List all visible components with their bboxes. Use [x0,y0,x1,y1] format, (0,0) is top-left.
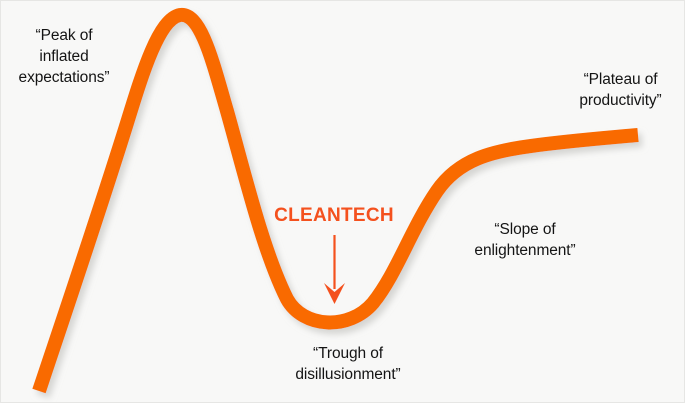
down-arrow-icon [319,233,351,309]
cleantech-marker-label: CLEANTECH [239,205,429,227]
hype-curve-path [39,15,638,391]
label-slope-of-enlightenment: “Slope of enlightenment” [439,219,611,261]
label-trough-of-disillusionment: “Trough of disillusionment” [253,343,443,385]
hype-cycle-figure: “Peak of inflated expectations” “Plateau… [0,0,685,403]
label-peak-of-inflated-expectations: “Peak of inflated expectations” [1,25,127,88]
label-plateau-of-productivity: “Plateau of productivity” [555,69,685,111]
